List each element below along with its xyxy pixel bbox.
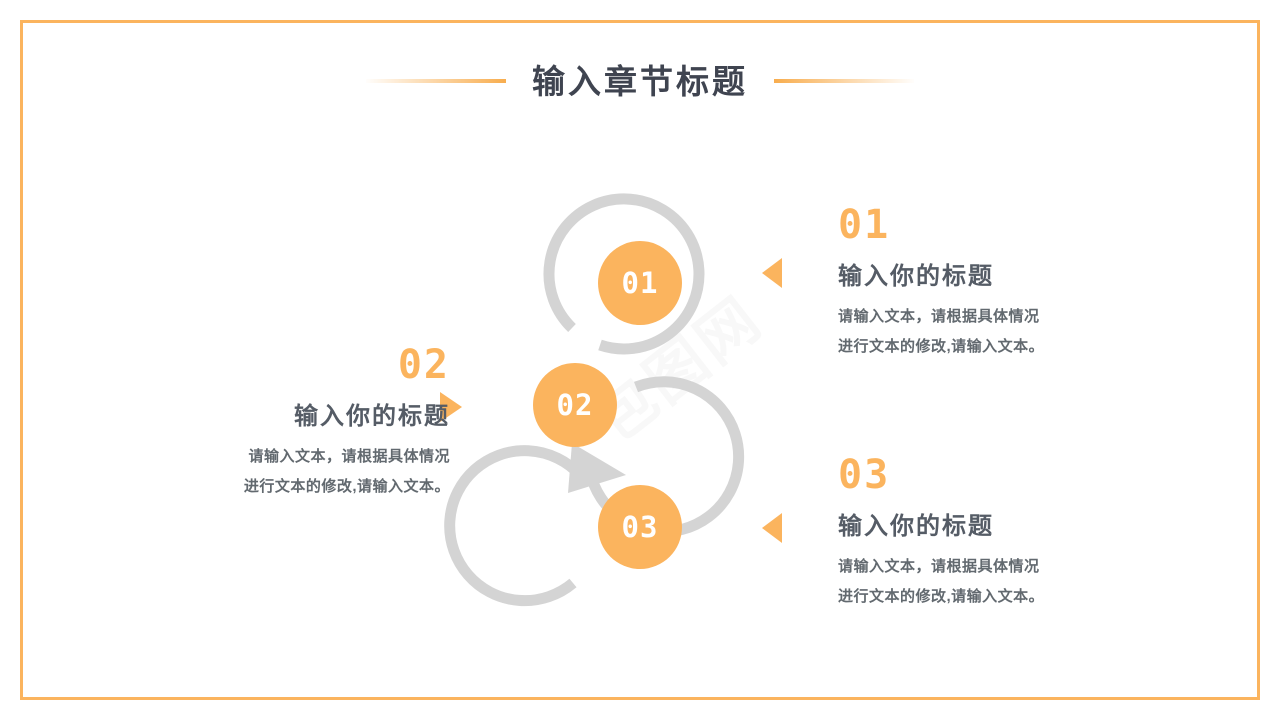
content-block-03-body-line1: 请输入文本，请根据具体情况 — [838, 552, 1138, 582]
triangle-left-icon-03 — [762, 513, 782, 543]
content-block-02-heading: 输入你的标题 — [120, 403, 450, 432]
diagram-node-02-label: 02 — [557, 388, 594, 422]
content-block-03-body-line2: 进行文本的修改,请输入文本。 — [838, 582, 1138, 612]
content-block-01-body-line2: 进行文本的修改,请输入文本。 — [838, 332, 1138, 362]
process-diagram: 01 02 03 — [440, 175, 840, 625]
slide-title-bar: 输入章节标题 — [0, 55, 1280, 107]
content-block-03-number: 03 — [838, 455, 1138, 495]
content-block-02-body-line1: 请输入文本，请根据具体情况 — [120, 442, 450, 472]
content-block-03-body: 请输入文本，请根据具体情况 进行文本的修改,请输入文本。 — [838, 552, 1138, 612]
title-rule-left — [366, 79, 506, 83]
content-block-03-heading: 输入你的标题 — [838, 513, 1138, 542]
content-block-01-body-line1: 请输入文本，请根据具体情况 — [838, 302, 1138, 332]
diagram-node-03-label: 03 — [622, 510, 659, 544]
content-block-01-number: 01 — [838, 205, 1138, 245]
slide-canvas: 输入章节标题 包图网 01 02 03 01 输 — [0, 0, 1280, 720]
content-block-02-number: 02 — [120, 345, 450, 385]
content-block-02-body: 请输入文本，请根据具体情况 进行文本的修改,请输入文本。 — [120, 442, 450, 502]
content-block-02-body-line2: 进行文本的修改,请输入文本。 — [120, 472, 450, 502]
content-block-02: 02 输入你的标题 请输入文本，请根据具体情况 进行文本的修改,请输入文本。 — [120, 345, 450, 502]
diagram-node-01-label: 01 — [622, 266, 659, 300]
triangle-left-icon-01 — [762, 258, 782, 288]
ring-arc-03 — [450, 451, 580, 601]
content-block-01-heading: 输入你的标题 — [838, 263, 1138, 292]
title-rule-right — [774, 79, 914, 83]
page-title: 输入章节标题 — [532, 65, 748, 98]
content-block-01: 01 输入你的标题 请输入文本，请根据具体情况 进行文本的修改,请输入文本。 — [838, 205, 1138, 362]
content-block-03: 03 输入你的标题 请输入文本，请根据具体情况 进行文本的修改,请输入文本。 — [838, 455, 1138, 612]
content-block-01-body: 请输入文本，请根据具体情况 进行文本的修改,请输入文本。 — [838, 302, 1138, 362]
